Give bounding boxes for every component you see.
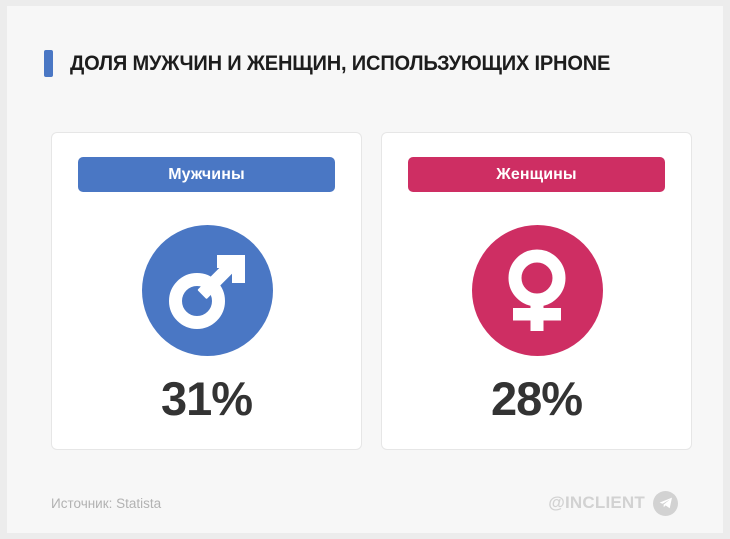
card-banner-women: Женщины: [408, 157, 665, 192]
footer: Источник: Statista @INCLIENT: [51, 490, 678, 516]
stat-card-group: Мужчины 31% Женщины: [51, 132, 692, 450]
infographic-root: ДОЛЯ МУЖЧИН И ЖЕНЩИН, ИСПОЛЬЗУЮЩИХ IPHON…: [0, 0, 730, 539]
content-panel: ДОЛЯ МУЖЧИН И ЖЕНЩИН, ИСПОЛЬЗУЮЩИХ IPHON…: [7, 6, 723, 533]
watermark: @INCLIENT: [548, 491, 678, 516]
venus-symbol-icon: [472, 225, 603, 356]
page-title: ДОЛЯ МУЖЧИН И ЖЕНЩИН, ИСПОЛЬЗУЮЩИХ IPHON…: [44, 48, 636, 78]
mars-symbol-icon: [142, 225, 273, 356]
watermark-label: @INCLIENT: [548, 493, 645, 513]
stat-value-men: 31%: [52, 375, 361, 422]
card-banner-men: Мужчины: [78, 157, 335, 192]
telegram-icon: [653, 491, 678, 516]
card-banner-men-label: Мужчины: [168, 166, 245, 184]
stat-card-men: Мужчины 31%: [51, 132, 362, 450]
stat-value-women: 28%: [382, 375, 691, 422]
stat-card-women: Женщины 28%: [381, 132, 692, 450]
card-banner-women-label: Женщины: [496, 166, 576, 184]
page-title-text: ДОЛЯ МУЖЧИН И ЖЕНЩИН, ИСПОЛЬЗУЮЩИХ IPHON…: [70, 53, 610, 74]
source-label: Источник: Statista: [51, 496, 161, 511]
title-accent-bar: [44, 50, 53, 77]
